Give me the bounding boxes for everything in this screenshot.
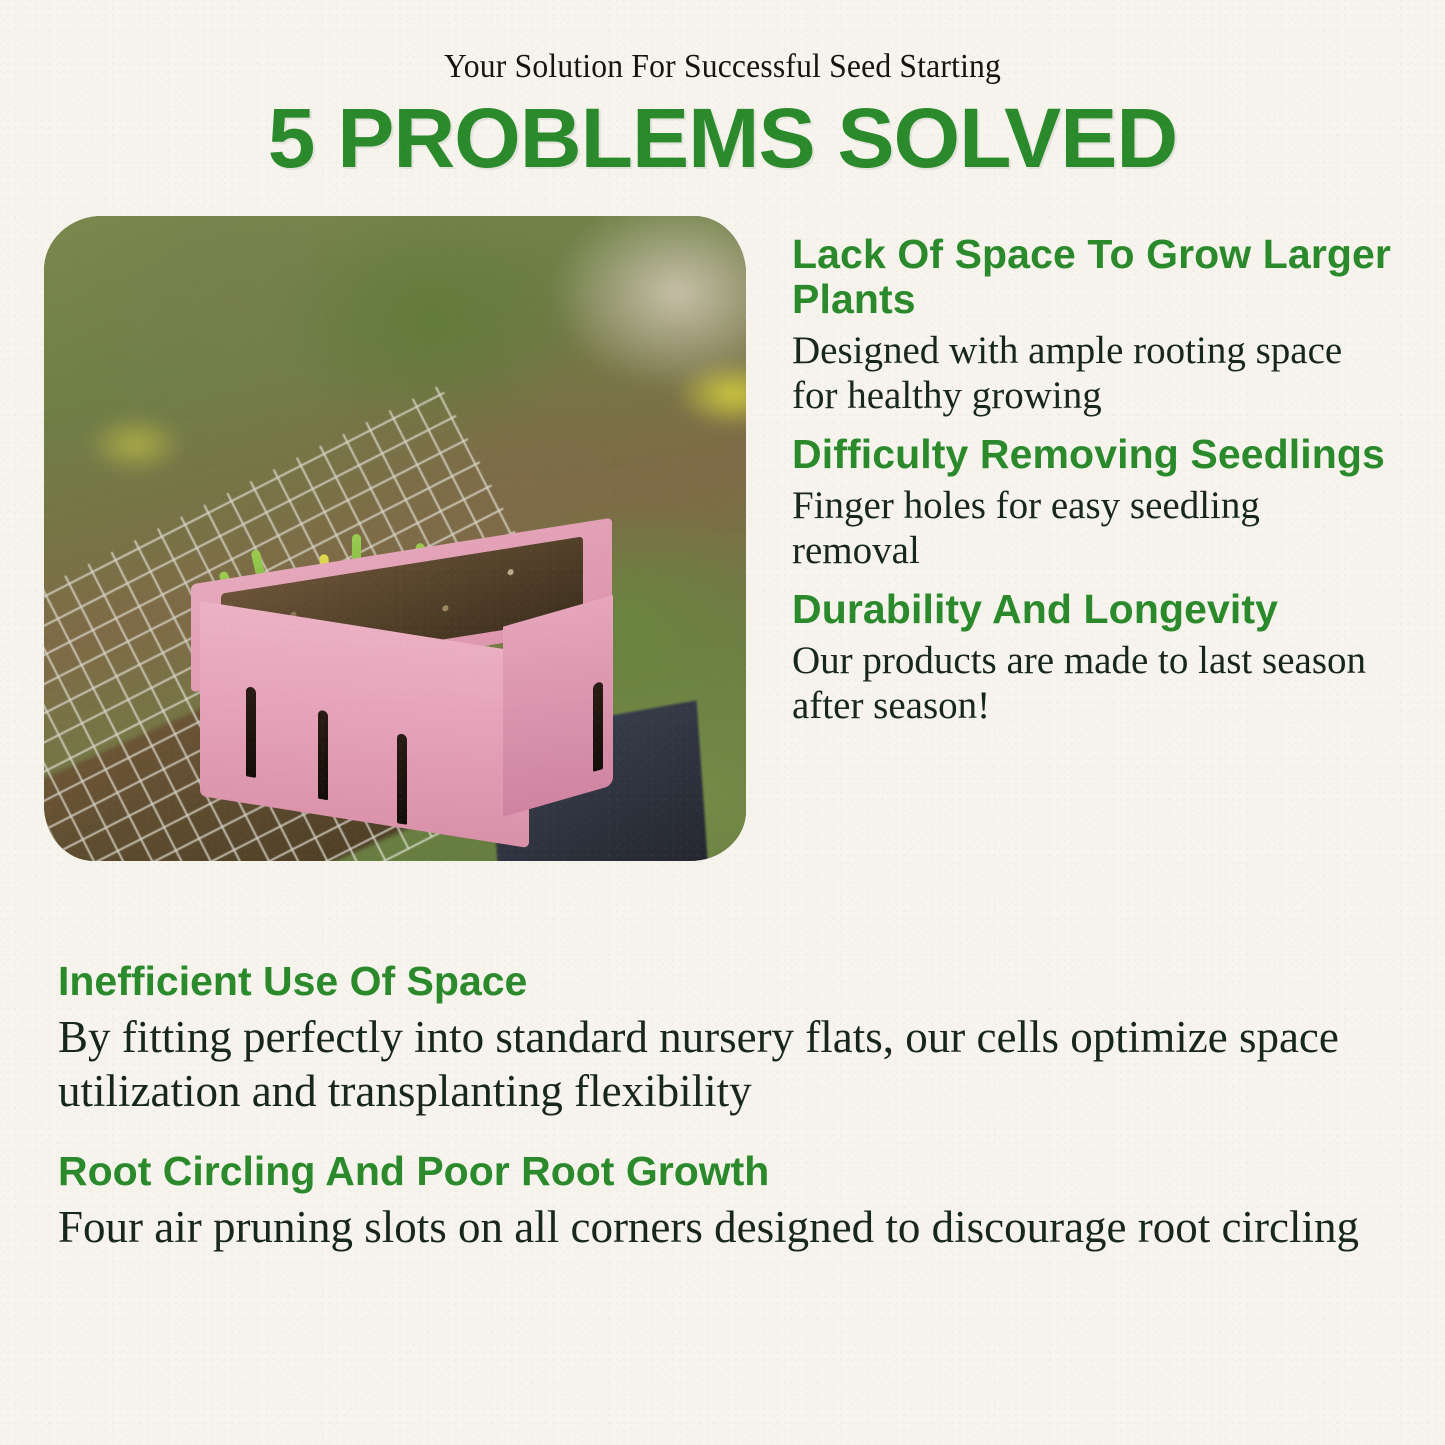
air-pruning-slot bbox=[246, 687, 256, 778]
air-pruning-slot bbox=[397, 734, 407, 825]
air-pruning-slot bbox=[318, 710, 328, 801]
air-pruning-slot bbox=[593, 681, 603, 771]
benefit-item: Inefficient Use Of Space By fitting perf… bbox=[58, 958, 1388, 1118]
tagline: Your Solution For Successful Seed Starti… bbox=[51, 48, 1395, 86]
benefit-heading: Lack Of Space To Grow Larger Plants bbox=[792, 232, 1392, 322]
infographic-page: Your Solution For Successful Seed Starti… bbox=[0, 0, 1445, 1445]
benefit-body: Designed with ample rooting space for he… bbox=[792, 328, 1392, 418]
benefit-body: Our products are made to last season aft… bbox=[792, 638, 1392, 728]
benefit-item: Difficulty Removing Seedlings Finger hol… bbox=[792, 432, 1392, 573]
benefit-heading: Difficulty Removing Seedlings bbox=[792, 432, 1392, 477]
benefit-body: Four air pruning slots on all corners de… bbox=[58, 1200, 1388, 1254]
tray-side bbox=[503, 595, 613, 816]
benefit-heading: Inefficient Use Of Space bbox=[58, 958, 1388, 1004]
benefit-body: Finger holes for easy seedling removal bbox=[792, 483, 1392, 573]
benefit-item: Lack Of Space To Grow Larger Plants Desi… bbox=[792, 232, 1392, 418]
benefit-heading: Root Circling And Poor Root Growth bbox=[58, 1148, 1388, 1194]
benefits-bottom-section: Inefficient Use Of Space By fitting perf… bbox=[58, 958, 1388, 1254]
page-title: 5 PROBLEMS SOLVED bbox=[0, 96, 1445, 180]
benefit-item: Root Circling And Poor Root Growth Four … bbox=[58, 1148, 1388, 1254]
product-photo-frame bbox=[44, 216, 746, 861]
benefit-heading: Durability And Longevity bbox=[792, 587, 1392, 632]
benefits-right-column: Lack Of Space To Grow Larger Plants Desi… bbox=[792, 232, 1392, 728]
benefit-body: By fitting perfectly into standard nurse… bbox=[58, 1010, 1388, 1118]
seedling-tray bbox=[191, 551, 612, 822]
benefit-item: Durability And Longevity Our products ar… bbox=[792, 587, 1392, 728]
product-photo bbox=[44, 216, 746, 861]
